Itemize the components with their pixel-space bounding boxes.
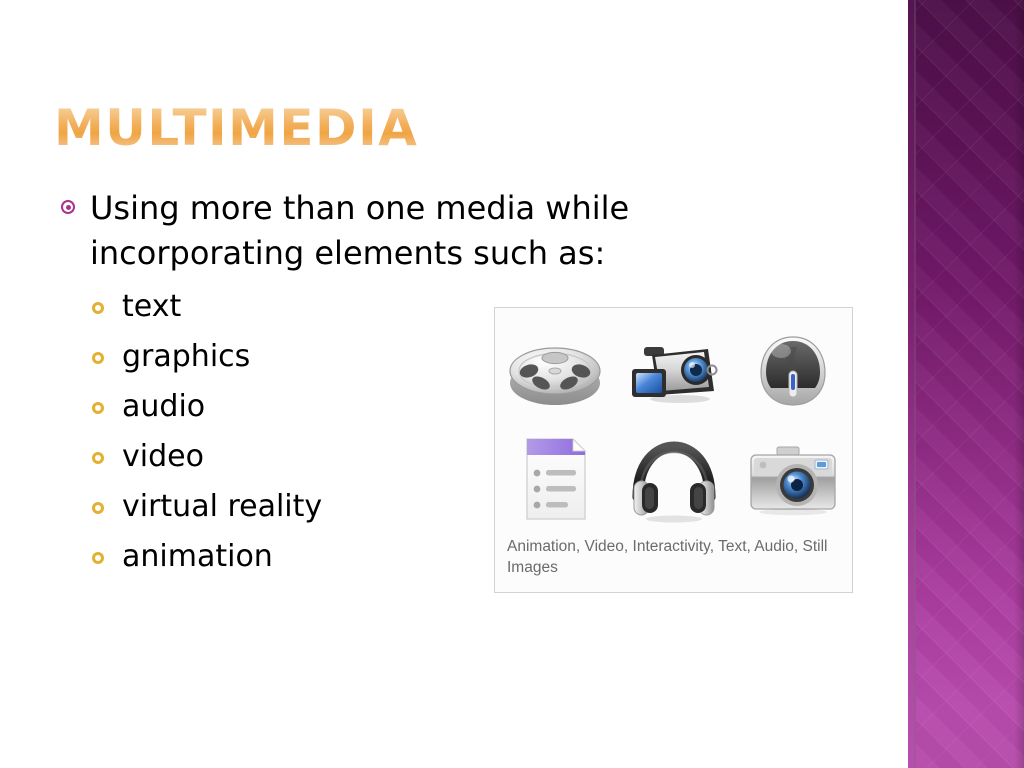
list-item-label: animation bbox=[122, 539, 273, 574]
slide-title: Multimedia bbox=[54, 100, 418, 156]
illustration-icon-row-top bbox=[495, 318, 852, 423]
slide-canvas: Multimedia Using more than one media whi… bbox=[0, 0, 1024, 768]
hollow-ring-bullet-icon bbox=[92, 452, 104, 464]
list-item-label: text bbox=[122, 289, 181, 324]
illustration-canvas: Animation, Video, Interactivity, Text, A… bbox=[495, 308, 852, 592]
hollow-ring-bullet-icon bbox=[92, 402, 104, 414]
film-reel-icon bbox=[500, 321, 610, 421]
list-item-label: graphics bbox=[122, 339, 250, 374]
list-item-label: audio bbox=[122, 389, 205, 424]
illustration-caption: Animation, Video, Interactivity, Text, A… bbox=[507, 536, 837, 578]
hollow-ring-bullet-icon bbox=[92, 502, 104, 514]
ring-dot-bullet-icon bbox=[61, 200, 75, 214]
decorative-side-band bbox=[908, 0, 1024, 768]
side-band-edge-shadow bbox=[1014, 0, 1024, 768]
camcorder-icon bbox=[619, 321, 729, 421]
photo-camera-icon bbox=[738, 429, 848, 529]
computer-mouse-icon bbox=[738, 321, 848, 421]
hollow-ring-bullet-icon bbox=[92, 302, 104, 314]
list-item-label: Using more than one media while incorpor… bbox=[90, 186, 750, 276]
hollow-ring-bullet-icon bbox=[92, 352, 104, 364]
document-text-icon bbox=[500, 429, 610, 529]
side-band-diamond-pattern bbox=[916, 0, 1024, 768]
headphones-icon bbox=[619, 429, 729, 529]
list-item-label: video bbox=[122, 439, 204, 474]
illustration-icon-row-bottom bbox=[495, 426, 852, 531]
list-item-label: virtual reality bbox=[122, 489, 322, 524]
hollow-ring-bullet-icon bbox=[92, 552, 104, 564]
multimedia-illustration: Animation, Video, Interactivity, Text, A… bbox=[494, 307, 853, 593]
